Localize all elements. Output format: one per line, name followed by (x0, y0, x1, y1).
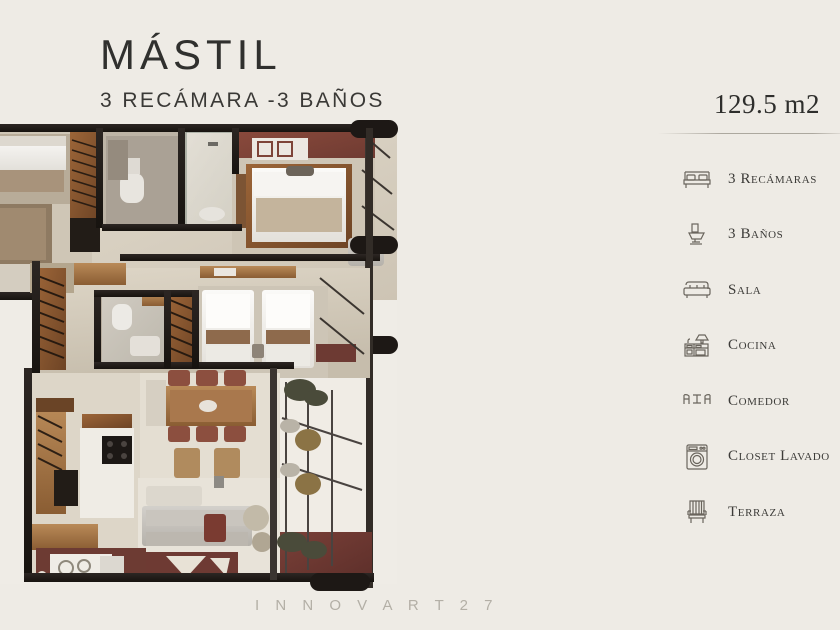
panel-divider (658, 133, 840, 134)
dining-table-icon (678, 386, 716, 416)
feature-list: 3 Recámaras 3 Baños Sala (678, 165, 840, 554)
toilet-icon (678, 220, 716, 250)
feature-row-bathrooms: 3 Baños (678, 221, 840, 249)
washing-machine-icon (678, 442, 716, 472)
feature-row-terrace: Terraza (678, 498, 840, 526)
terrace-chair-icon (678, 497, 716, 527)
sofa-icon (678, 275, 716, 305)
brand-watermark: I N N O V A R T 2 7 (255, 597, 499, 614)
feature-row-diningroom: Comedor (678, 387, 840, 415)
feature-row-laundry: Closet Lavado (678, 443, 840, 471)
feature-label-terrace: Terraza (716, 504, 785, 521)
title-block: MÁSTIL 3 RECÁMARA -3 BAÑOS (100, 34, 385, 113)
feature-row-kitchen: Cocina (678, 332, 840, 360)
feature-row-bedrooms: 3 Recámaras (678, 165, 840, 193)
feature-label-bedrooms: 3 Recámaras (716, 171, 817, 188)
page-title: MÁSTIL (100, 34, 385, 76)
feature-label-laundry: Closet Lavado (716, 448, 830, 465)
floorplan-page: MÁSTIL 3 RECÁMARA -3 BAÑOS (0, 0, 840, 630)
page-subtitle: 3 RECÁMARA -3 BAÑOS (100, 89, 385, 113)
feature-row-livingroom: Sala (678, 276, 840, 304)
feature-label-bathrooms: 3 Baños (716, 226, 783, 243)
feature-label-diningroom: Comedor (716, 393, 790, 410)
area-value: 129.5 m2 (714, 89, 820, 120)
floorplan-render (0, 118, 420, 593)
kitchen-icon (678, 331, 716, 361)
feature-label-kitchen: Cocina (716, 337, 776, 354)
feature-label-livingroom: Sala (716, 282, 761, 299)
bed-icon (678, 164, 716, 194)
